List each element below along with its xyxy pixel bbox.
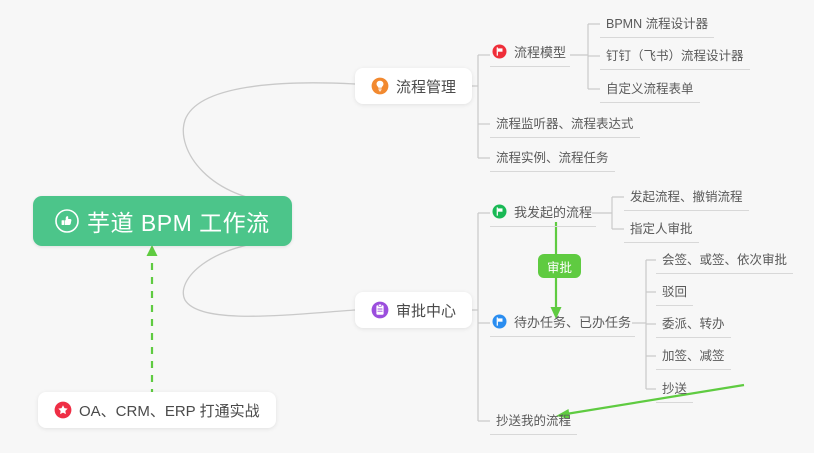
branch-label-approval-center: 审批中心 [396,300,456,321]
leaf-label: 驳回 [662,281,687,300]
leaf-assigned-approval[interactable]: 指定人审批 [624,215,699,243]
leaf-bpmn-designer[interactable]: BPMN 流程设计器 [600,10,714,38]
leaf-label: 加签、减签 [662,345,725,364]
label-todo-done-tasks: 待办任务、已办任务 [514,312,631,331]
leaf-reject[interactable]: 驳回 [656,278,693,306]
annotation-label: 审批 [547,257,572,276]
node-cc-to-me[interactable]: 抄送我的流程 [490,407,577,435]
leaf-label: 自定义流程表单 [606,78,694,97]
leaf-start-cancel-process[interactable]: 发起流程、撤销流程 [624,183,749,211]
node-process-instance[interactable]: 流程实例、流程任务 [490,144,615,172]
clipboard-icon [371,301,389,319]
label-process-model: 流程模型 [514,42,566,61]
node-my-started-processes[interactable]: 我发起的流程 [490,200,596,227]
leaf-label: 钉钉（飞书）流程设计器 [606,45,744,64]
leaf-label: BPMN 流程设计器 [606,13,708,32]
annotation-approval-label: 审批 [538,254,581,278]
leaf-label: 抄送我的流程 [496,410,571,429]
branch-label-process-management: 流程管理 [396,76,456,97]
leaf-label: 指定人审批 [630,218,693,237]
leaf-label: 抄送 [662,378,687,397]
branch-node-process-management[interactable]: 流程管理 [355,68,472,104]
node-process-model[interactable]: 流程模型 [490,40,570,67]
flag-icon [492,44,507,59]
lightbulb-icon [371,77,389,95]
flag-icon [492,204,507,219]
leaf-cc[interactable]: 抄送 [656,375,693,403]
flag-icon [492,314,507,329]
leaf-countersign[interactable]: 会签、或签、依次审批 [656,246,793,274]
root-label: 芋道 BPM 工作流 [87,204,270,238]
label-my-started-processes: 我发起的流程 [514,202,592,221]
leaf-label: 会签、或签、依次审批 [662,249,787,268]
node-process-listener[interactable]: 流程监听器、流程表达式 [490,110,640,138]
leaf-label: 流程实例、流程任务 [496,147,609,166]
thumbs-up-icon [55,209,79,233]
leaf-label: 发起流程、撤销流程 [630,186,743,205]
leaf-label: 委派、转办 [662,313,725,332]
leaf-dingtalk-designer[interactable]: 钉钉（飞书）流程设计器 [600,42,750,70]
leaf-add-remove-sign[interactable]: 加签、减签 [656,342,731,370]
leaf-delegate-transfer[interactable]: 委派、转办 [656,310,731,338]
star-icon [54,401,72,419]
branch-node-approval-center[interactable]: 审批中心 [355,292,472,328]
node-todo-done-tasks[interactable]: 待办任务、已办任务 [490,310,635,337]
root-node[interactable]: 芋道 BPM 工作流 [33,196,292,246]
callout-node[interactable]: OA、CRM、ERP 打通实战 [38,392,276,428]
leaf-custom-form[interactable]: 自定义流程表单 [600,75,700,103]
mindmap-canvas: 芋道 BPM 工作流 OA、CRM、ERP 打通实战 流程管理 [0,0,814,453]
leaf-label: 流程监听器、流程表达式 [496,113,634,132]
callout-label: OA、CRM、ERP 打通实战 [79,400,260,421]
